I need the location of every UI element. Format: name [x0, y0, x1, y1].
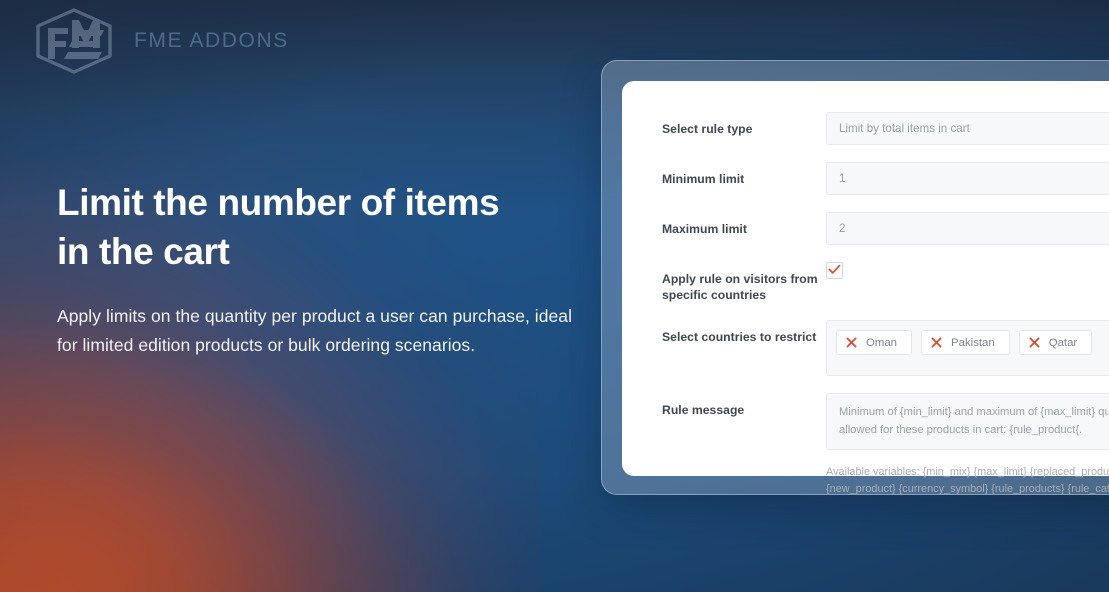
form-row-maximum-limit: Maximum limit 2	[662, 212, 1109, 245]
page-title: Limit the number of items in the cart	[57, 178, 577, 276]
countries-tag-input[interactable]: Oman Pakistan	[826, 320, 1109, 376]
rule-message-textarea[interactable]: Minimum of {min_limit} and maximum of {m…	[826, 393, 1109, 450]
label-maximum-limit: Maximum limit	[662, 212, 826, 237]
brand-name: FME ADDONS	[134, 29, 289, 53]
maximum-limit-value: 2	[839, 222, 845, 235]
label-country-toggle: Apply rule on visitors from specific cou…	[662, 262, 826, 303]
form-row-rule-message: Rule message Minimum of {min_limit} and …	[662, 393, 1109, 495]
form-row-countries: Select countries to restrict Oman	[662, 320, 1109, 376]
form-row-rule-type: Select rule type Limit by total items in…	[662, 112, 1109, 145]
screenshot-stage: FME ADDONS Limit the number of items in …	[0, 0, 1109, 592]
field-country-toggle	[826, 262, 1109, 279]
field-countries: Oman Pakistan	[826, 320, 1109, 376]
fme-hexagon-cube-logo-icon	[28, 6, 120, 76]
country-tag-label: Oman	[866, 337, 897, 349]
minimum-limit-value: 1	[839, 172, 845, 185]
rule-type-select[interactable]: Limit by total items in cart	[826, 112, 1109, 145]
field-maximum-limit: 2	[826, 212, 1109, 245]
country-toggle-checkbox[interactable]	[826, 262, 843, 279]
settings-card-frame: Select rule type Limit by total items in…	[601, 60, 1109, 495]
page-title-line-1: Limit the number of items	[57, 182, 499, 223]
field-rule-type: Limit by total items in cart	[826, 112, 1109, 145]
page-title-line-2: in the cart	[57, 231, 229, 272]
hero-subtitle: Apply limits on the quantity per product…	[57, 302, 577, 359]
close-x-icon[interactable]	[931, 337, 942, 348]
minimum-limit-input[interactable]: 1	[826, 162, 1109, 195]
rule-type-value: Limit by total items in cart	[839, 122, 970, 135]
available-variables-helper: Available variables: {min_mix} {max_limi…	[826, 464, 1109, 495]
form-row-country-toggle: Apply rule on visitors from specific cou…	[662, 262, 1109, 303]
country-tag[interactable]: Oman	[836, 330, 912, 355]
close-x-icon[interactable]	[846, 337, 857, 348]
field-minimum-limit: 1	[826, 162, 1109, 195]
form-row-minimum-limit: Minimum limit 1	[662, 162, 1109, 195]
rule-settings-form: Select rule type Limit by total items in…	[662, 112, 1109, 495]
label-rule-message: Rule message	[662, 393, 826, 418]
brand-lockup: FME ADDONS	[28, 6, 289, 76]
label-rule-type: Select rule type	[662, 112, 826, 137]
check-icon	[828, 262, 841, 280]
available-variables-line-2: {new_product} {currency_symbol} {rule_pr…	[826, 481, 1109, 495]
settings-card: Select rule type Limit by total items in…	[622, 81, 1109, 476]
country-tag[interactable]: Pakistan	[921, 330, 1010, 355]
maximum-limit-input[interactable]: 2	[826, 212, 1109, 245]
country-tag-label: Qatar	[1049, 337, 1078, 349]
country-tag[interactable]: Qatar	[1019, 330, 1093, 355]
country-tag-label: Pakistan	[951, 337, 995, 349]
field-rule-message: Minimum of {min_limit} and maximum of {m…	[826, 393, 1109, 495]
hero-section: Limit the number of items in the cart Ap…	[57, 178, 577, 359]
available-variables-line-1: Available variables: {min_mix} {max_limi…	[826, 464, 1109, 480]
label-countries: Select countries to restrict	[662, 320, 826, 345]
label-minimum-limit: Minimum limit	[662, 162, 826, 187]
close-x-icon[interactable]	[1029, 337, 1040, 348]
